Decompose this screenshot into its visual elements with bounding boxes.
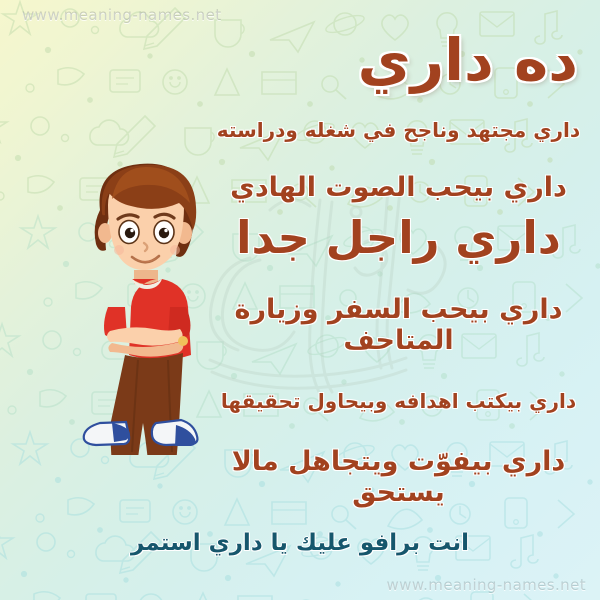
phrase-line-1: داري مجتهد وناجح في شغله ودراسته <box>215 118 582 142</box>
watermark-top: www.meaning-names.net <box>22 6 221 24</box>
cartoon-boy-illustration <box>72 155 222 455</box>
phrase-line-5: داري بيكتب اهدافه وبيحاول تحقيقها <box>215 389 582 413</box>
phrase-line-2: داري بيحب الصوت الهادي <box>215 172 582 203</box>
page-title: ده داري <box>358 30 578 91</box>
phrase-list: داري مجتهد وناجح في شغله ودراسته داري بي… <box>215 118 582 516</box>
phrase-line-3: داري راجل جدا <box>215 211 582 264</box>
phrase-line-6: داري بيفوّت ويتجاهل مالا يستحق <box>215 446 582 508</box>
footer-message: انت برافو عليك يا داري استمر <box>0 530 600 556</box>
phrase-line-4: داري بيحب السفر وزيارة المتاحف <box>215 294 582 356</box>
watermark-bottom: www.meaning-names.net <box>387 576 586 594</box>
name-meaning-card: www.meaning-names.net ده داري <box>0 0 600 600</box>
